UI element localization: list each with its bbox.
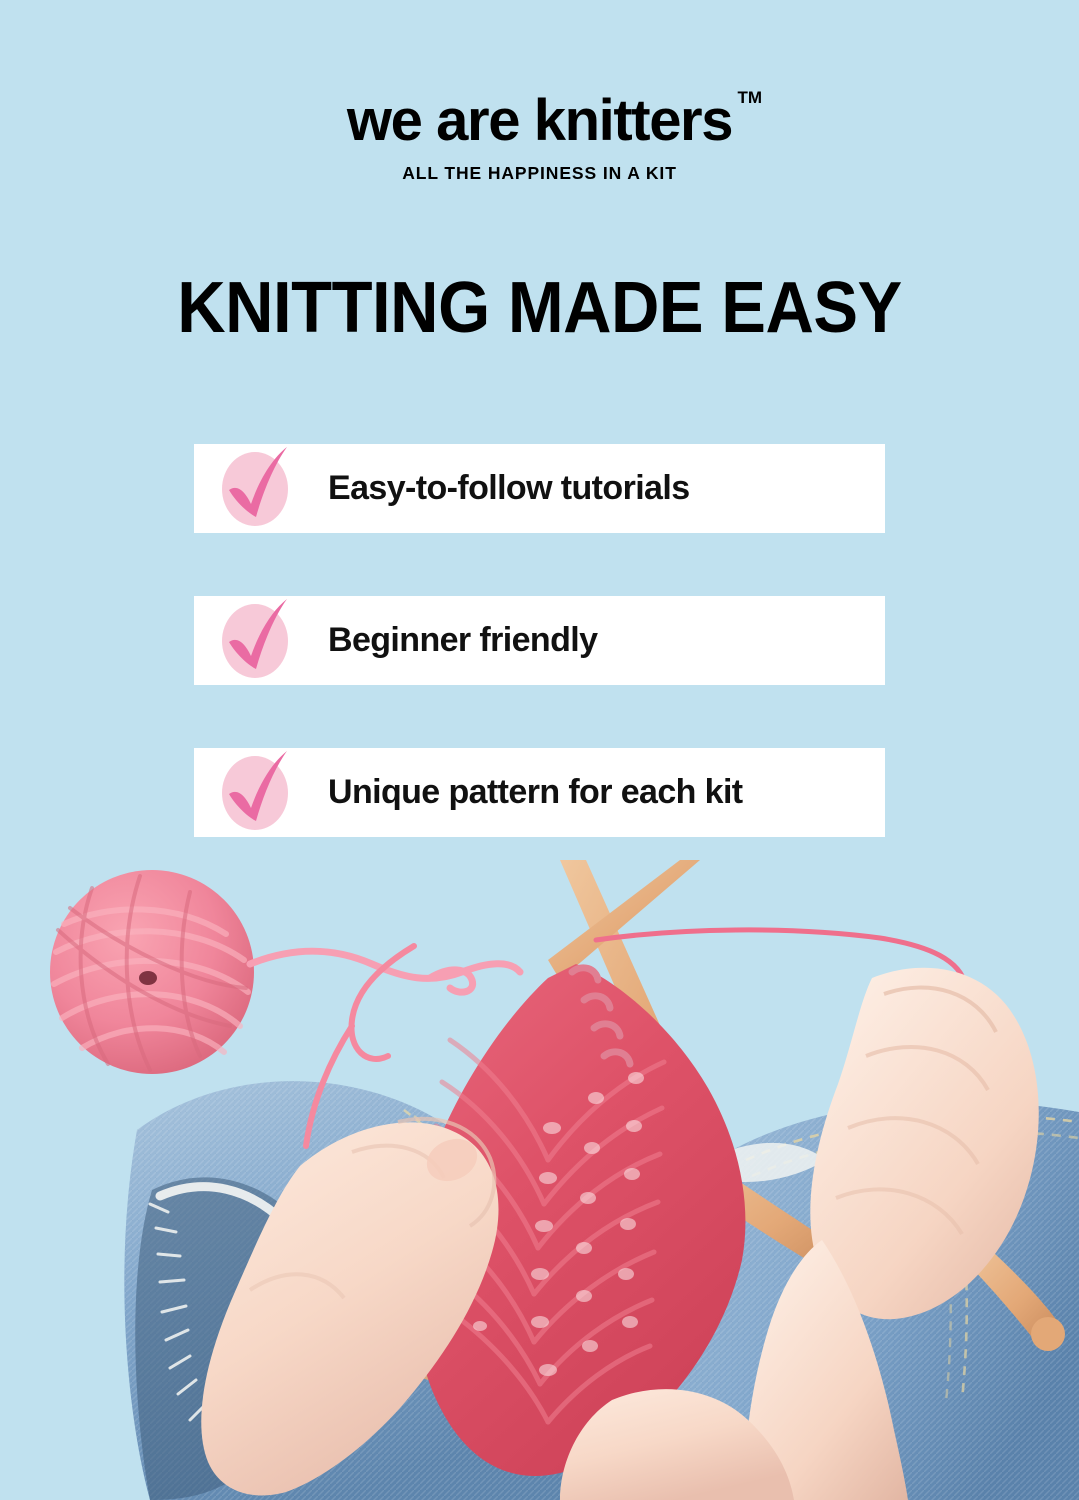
feature-label: Unique pattern for each kit <box>328 773 743 812</box>
feature-card-3: Unique pattern for each kit <box>194 748 885 837</box>
hero-photo <box>0 860 1079 1500</box>
page-title: KNITTING MADE EASY <box>38 272 1041 344</box>
feature-label: Beginner friendly <box>328 621 597 660</box>
feature-label: Easy-to-follow tutorials <box>328 469 690 508</box>
feature-card-1: Easy-to-follow tutorials <box>194 444 885 533</box>
trademark-icon: TM <box>738 89 763 106</box>
brand-logo-text: we are knitters <box>347 88 732 153</box>
poster-canvas: we are knitters TM ALL THE HAPPINESS IN … <box>0 0 1079 1500</box>
check-icon <box>218 596 292 685</box>
brand-logo: we are knitters TM <box>347 92 732 150</box>
check-icon <box>218 444 292 533</box>
check-icon <box>218 748 292 837</box>
feature-card-2: Beginner friendly <box>194 596 885 685</box>
feature-list: Easy-to-follow tutorials Beginner friend… <box>194 444 885 900</box>
brand-tagline: ALL THE HAPPINESS IN A KIT <box>0 163 1079 184</box>
brand-block: we are knitters TM ALL THE HAPPINESS IN … <box>0 92 1079 184</box>
